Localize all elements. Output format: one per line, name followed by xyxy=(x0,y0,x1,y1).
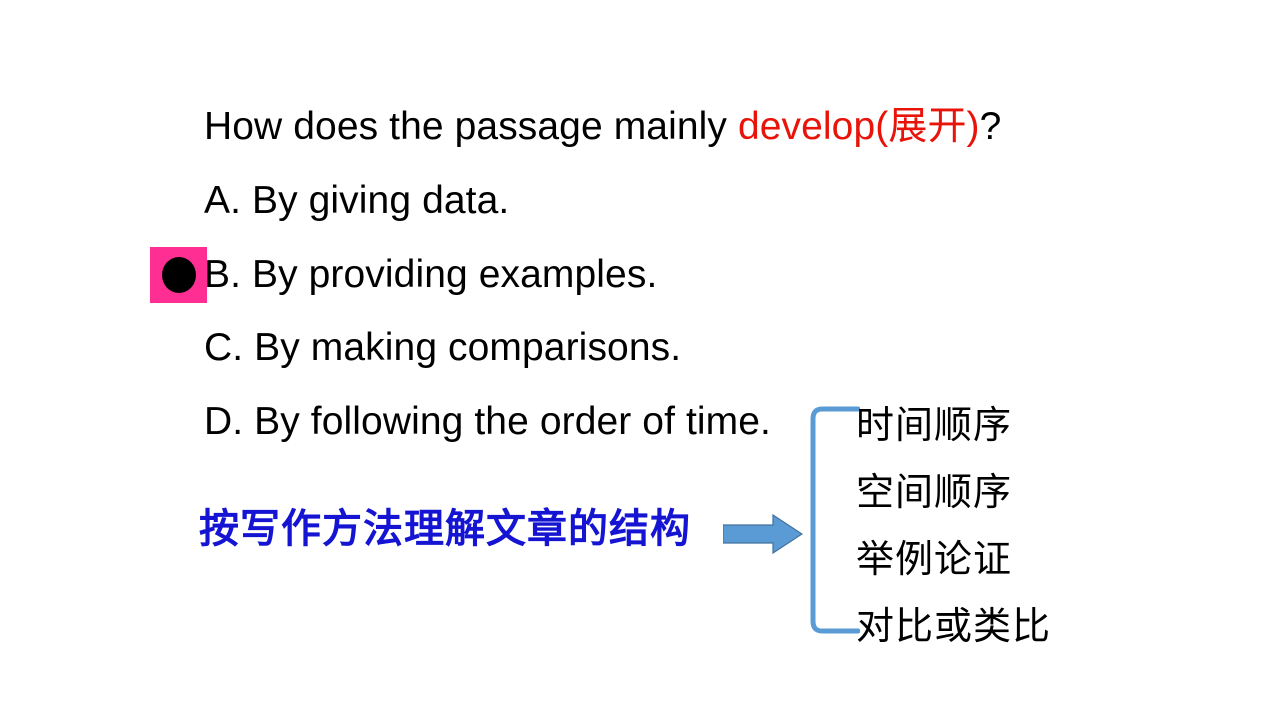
slide-canvas: How does the passage mainly develop(展开)?… xyxy=(0,0,1280,720)
left-bracket-icon xyxy=(808,405,860,635)
option-c[interactable]: C. By making comparisons. xyxy=(204,324,681,372)
structure-list: 时间顺序 空间顺序 举例论证 对比或类比 xyxy=(856,404,1116,648)
filled-circle-bullet-icon xyxy=(162,257,196,293)
option-a[interactable]: A. By giving data. xyxy=(204,177,509,225)
right-block-arrow-icon xyxy=(723,514,803,554)
structure-list-item-3: 举例论证 xyxy=(856,538,1116,605)
question-tail: ? xyxy=(980,105,1002,148)
selected-answer-marker[interactable] xyxy=(150,247,207,303)
option-b[interactable]: B. By providing examples. xyxy=(204,251,657,299)
structure-list-item-2: 空间顺序 xyxy=(856,471,1116,538)
question-lead: How does the passage mainly xyxy=(204,105,738,148)
structure-list-item-1: 时间顺序 xyxy=(856,404,1116,471)
question-text: How does the passage mainly develop(展开)? xyxy=(204,103,1001,151)
caption-chinese: 按写作方法理解文章的结构 xyxy=(199,504,691,554)
question-highlight-develop: develop(展开) xyxy=(738,105,980,148)
option-d[interactable]: D. By following the order of time. xyxy=(204,398,771,446)
structure-list-item-4: 对比或类比 xyxy=(856,605,1116,648)
